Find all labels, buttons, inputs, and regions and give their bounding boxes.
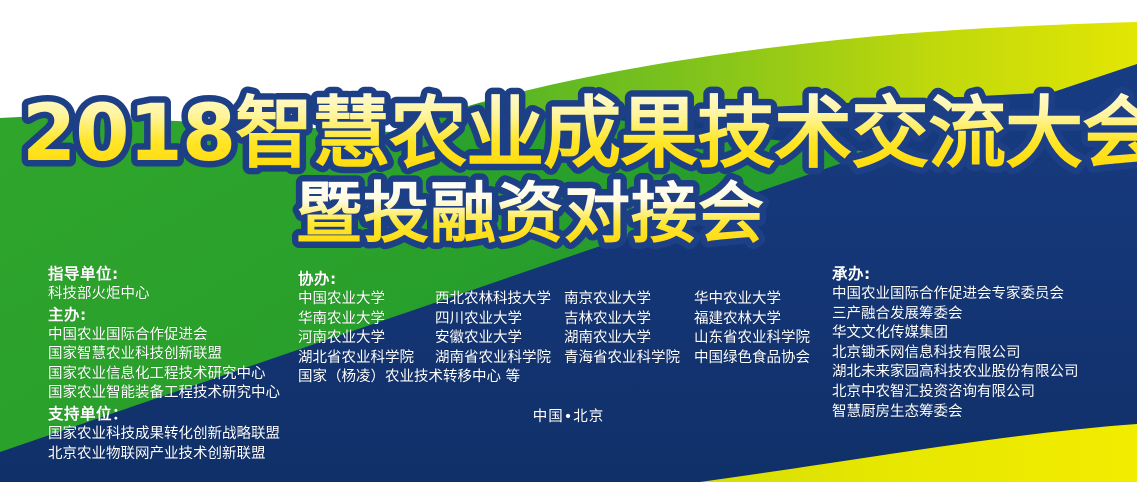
co-organizer-item: 华中农业大学 [694,290,810,310]
co-organizer-item: 南京农业大学 [564,290,694,310]
co-organizer-item: 湖北省农业科学院 [298,349,435,369]
co-organizer-item: 河南农业大学 [298,329,435,349]
host-item-3: 国家农业智能装备工程技术研究中心 [48,384,280,404]
co-organizer-item: 湖南农业大学 [564,329,694,349]
undertaker-item-2: 华文文化传媒集团 [832,324,1079,344]
heading-undertaker: 承办: [832,264,1079,285]
co-organizer-item: 湖南省农业科学院 [435,349,564,369]
co-organizer-grid: 中国农业大学 西北农林科技大学 南京农业大学 华中农业大学 华南农业大学 四川农… [298,290,810,368]
host-item-0: 中国农业国际合作促进会 [48,326,280,346]
co-organizer-tail: 国家（杨凌）农业技术转移中心 等 [298,368,810,388]
co-organizers-column: 协办: 中国农业大学 西北农林科技大学 南京农业大学 华中农业大学 华南农业大学… [298,269,810,388]
heading-guidance-unit: 指导单位: [48,264,280,285]
undertaker-item-0: 中国农业国际合作促进会专家委员会 [832,285,1079,305]
organizers-left-column: 指导单位: 科技部火炬中心 主办: 中国农业国际合作促进会 国家智慧农业科技创新… [48,264,280,464]
support-unit-item-0: 国家农业科技成果转化创新战略联盟 [48,425,280,445]
co-organizer-item: 四川农业大学 [435,310,564,330]
co-organizer-item: 青海省农业科学院 [564,349,694,369]
undertaker-item-4: 湖北未来家园高科技农业股份有限公司 [832,363,1079,383]
heading-co-organizer: 协办: [298,269,810,290]
guidance-unit-item-0: 科技部火炬中心 [48,285,280,305]
co-organizer-item: 吉林农业大学 [564,310,694,330]
host-item-1: 国家智慧农业科技创新联盟 [48,345,280,365]
co-organizer-item: 中国绿色食品协会 [694,349,810,369]
co-organizer-item: 中国农业大学 [298,290,435,310]
co-organizer-item: 西北农林科技大学 [435,290,564,310]
co-organizer-item: 华南农业大学 [298,310,435,330]
co-organizer-item: 福建农林大学 [694,310,810,330]
host-item-2: 国家农业信息化工程技术研究中心 [48,365,280,385]
event-location: 中国•北京 [0,405,1137,426]
co-organizer-item: 安徽农业大学 [435,329,564,349]
undertaker-item-5: 北京中农智汇投资咨询有限公司 [832,383,1079,403]
support-unit-item-1: 北京农业物联网产业技术创新联盟 [48,445,280,465]
co-organizer-item: 山东省农业科学院 [694,329,810,349]
conference-banner: 2018智慧农业成果技术交流大会 2018智慧农业成果技术交流大会 暨投融资对接… [0,0,1137,482]
heading-host: 主办: [48,305,280,326]
undertakers-column: 承办: 中国农业国际合作促进会专家委员会 三产融合发展筹委会 华文文化传媒集团 … [832,264,1079,422]
undertaker-item-1: 三产融合发展筹委会 [832,305,1079,325]
undertaker-item-3: 北京锄禾网信息科技有限公司 [832,344,1079,364]
